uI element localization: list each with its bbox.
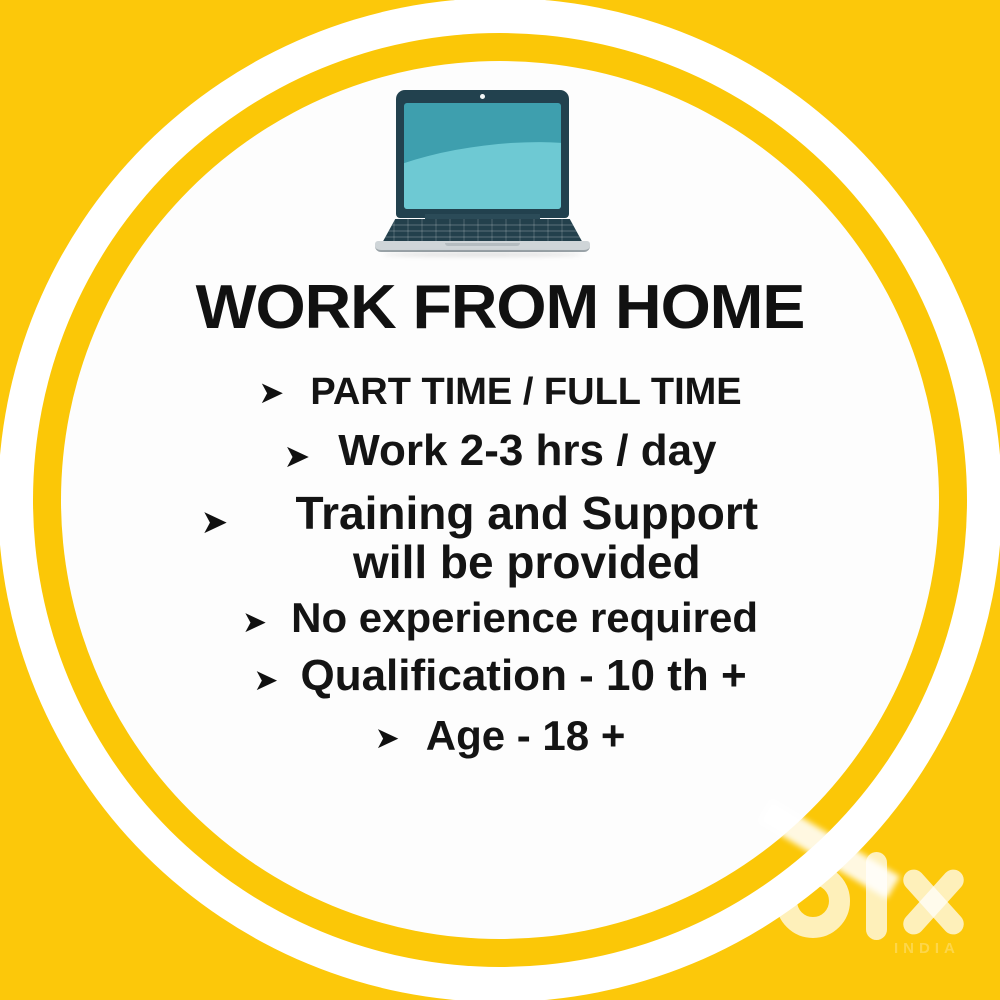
olx-watermark: INDIA [772,852,972,967]
ring-streak-overlay [758,799,900,899]
list-item: ➤ Training and Support will be provided [0,489,1000,587]
page-title: WORK FROM HOME [0,277,1000,339]
list-item-label: Training and Support will be provided [254,489,799,587]
list-item-label: Age - 18 + [426,714,626,759]
list-item-label: Qualification - 10 th + [300,653,746,700]
laptop-icon [375,90,590,255]
arrow-bullet-icon: ➤ [283,440,310,472]
laptop-base-lip [445,243,520,246]
watermark-letter-x [898,866,968,938]
list-item: ➤ Age - 18 + [0,714,1000,759]
arrow-bullet-icon: ➤ [201,505,229,538]
laptop-shadow [383,252,582,257]
list-item: ➤ Work 2-3 hrs / day [0,428,1000,475]
poster-content: WORK FROM HOME ➤ PART TIME / FULL TIME ➤… [0,0,1000,1000]
benefits-list: ➤ PART TIME / FULL TIME ➤ Work 2-3 hrs /… [0,372,1000,758]
arrow-bullet-icon: ➤ [253,666,278,696]
list-item-label: No experience required [291,596,758,641]
work-from-home-poster: WORK FROM HOME ➤ PART TIME / FULL TIME ➤… [0,0,1000,1000]
laptop-lid [396,90,569,218]
list-item: ➤ Qualification - 10 th + [0,653,1000,700]
list-item-label: Work 2-3 hrs / day [338,428,716,475]
watermark-subtitle: INDIA [894,940,960,957]
list-item-label: PART TIME / FULL TIME [310,372,741,412]
watermark-letter-o [776,864,850,938]
watermark-letter-l [866,852,887,940]
list-item: ➤ PART TIME / FULL TIME [0,372,1000,412]
list-item: ➤ No experience required [0,596,1000,641]
arrow-bullet-icon: ➤ [258,378,284,409]
arrow-bullet-icon: ➤ [375,724,400,754]
laptop-screen [404,103,561,209]
screen-highlight [404,128,561,209]
arrow-bullet-icon: ➤ [242,608,267,638]
webcam-icon [480,94,485,99]
